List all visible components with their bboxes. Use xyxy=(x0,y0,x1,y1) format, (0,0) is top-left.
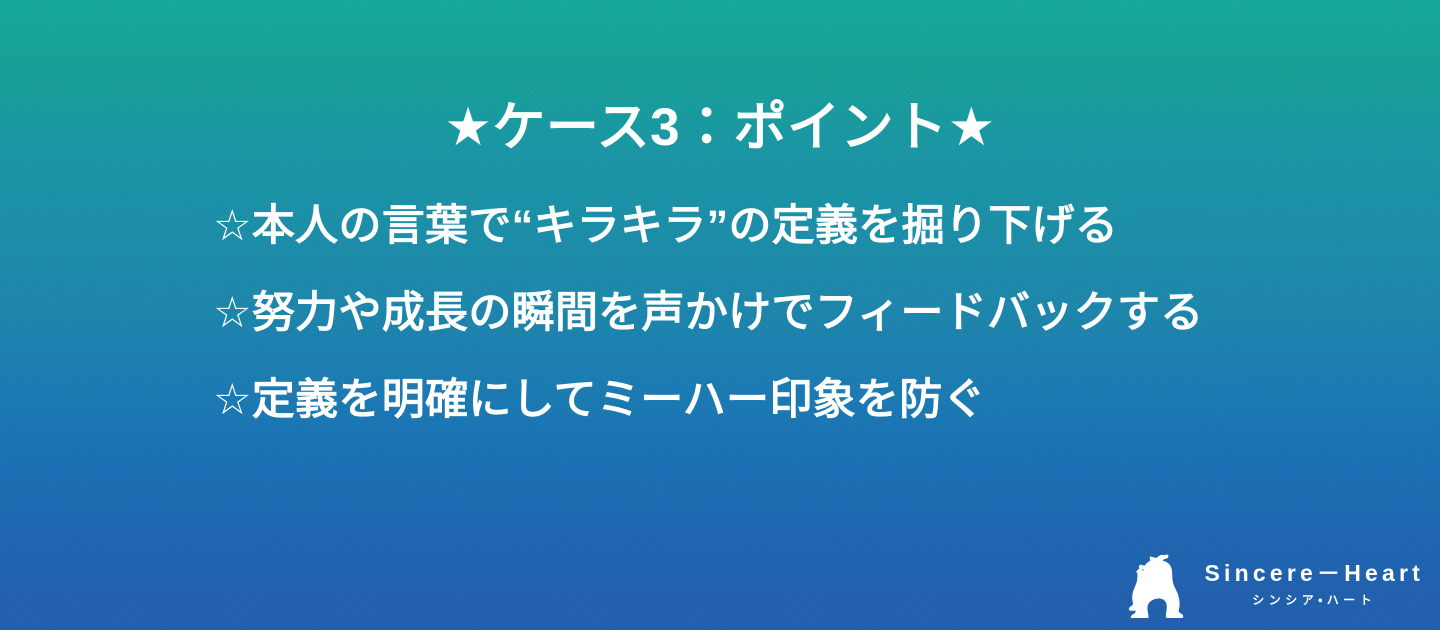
brand-logo: Sincere－Heart シンシア・ハート xyxy=(1116,552,1424,618)
slide-canvas: ★ケース3：ポイント★ ☆本人の言葉で“キラキラ”の定義を掘り下げる ☆努力や成… xyxy=(0,0,1440,630)
list-item: ☆努力や成長の瞬間を声かけでフィードバックする xyxy=(213,292,1333,335)
logo-text-block: Sincere－Heart シンシア・ハート xyxy=(1204,561,1424,608)
list-item: ☆本人の言葉で“キラキラ”の定義を掘り下げる xyxy=(213,205,1333,248)
bullet-list: ☆本人の言葉で“キラキラ”の定義を掘り下げる ☆努力や成長の瞬間を声かけでフィー… xyxy=(213,205,1333,422)
two-dogs-silhouette-icon xyxy=(1116,552,1190,618)
logo-subtitle: シンシア・ハート xyxy=(1252,594,1376,607)
slide-content: ★ケース3：ポイント★ ☆本人の言葉で“キラキラ”の定義を掘り下げる ☆努力や成… xyxy=(0,0,1440,630)
list-item: ☆定義を明確にしてミーハー印象を防ぐ xyxy=(213,379,1333,422)
logo-name: Sincere－Heart xyxy=(1204,561,1424,586)
page-title: ★ケース3：ポイント★ xyxy=(0,98,1440,159)
